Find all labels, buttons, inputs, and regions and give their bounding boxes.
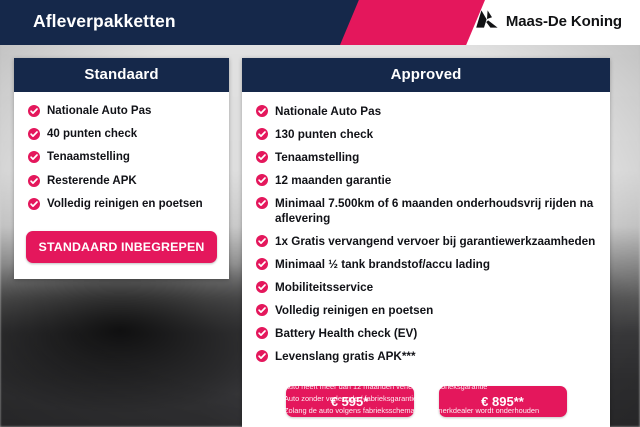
- check-circle-icon: [256, 304, 268, 316]
- feature-label: 40 punten check: [47, 127, 137, 142]
- brand-name: Maas-De Koning: [506, 13, 622, 30]
- check-circle-icon: [256, 105, 268, 117]
- feature-label: 130 punten check: [275, 127, 373, 142]
- feature-label: Resterende APK: [47, 174, 137, 189]
- standard-card-heading: Standaard: [14, 58, 229, 92]
- feature-label: Volledig reinigen en poetsen: [47, 197, 203, 212]
- check-circle-icon: [28, 105, 40, 117]
- approved-feature-list: Nationale Auto Pas 130 punten check Tena…: [242, 92, 610, 376]
- page-header: Afleverpakketten Maas-De Koning: [0, 0, 640, 45]
- approved-card-heading: Approved: [242, 58, 610, 92]
- feature-label: Minimaal ½ tank brandstof/accu lading: [275, 257, 490, 272]
- list-item: Volledig reinigen en poetsen: [242, 303, 610, 318]
- footnote: ** Auto zonder verlengde / fabrieksgaran…: [262, 393, 632, 405]
- page-title: Afleverpakketten: [33, 11, 176, 32]
- list-item: Resterende APK: [14, 174, 229, 189]
- list-item: Tenaamstelling: [242, 150, 610, 165]
- list-item: Levenslang gratis APK***: [242, 349, 610, 364]
- footnote-text: Zolang de auto volgens fabrieksschema bi…: [284, 405, 539, 417]
- standaard-inbegrepen-button[interactable]: STANDAARD INBEGREPEN: [26, 231, 217, 263]
- check-circle-icon: [28, 151, 40, 163]
- footnote-marker: **: [262, 393, 284, 405]
- list-item: Nationale Auto Pas: [242, 104, 610, 119]
- list-item: Tenaamstelling: [14, 150, 229, 165]
- list-item: 130 punten check: [242, 127, 610, 142]
- feature-label: Battery Health check (EV): [275, 326, 417, 341]
- footnote-marker: *: [262, 381, 284, 393]
- list-item: Volledig reinigen en poetsen: [14, 197, 229, 212]
- brand-lockup: Maas-De Koning: [475, 9, 622, 34]
- feature-label: 1x Gratis vervangend vervoer bij garanti…: [275, 234, 595, 249]
- maas-de-koning-m-logo-icon: [475, 9, 499, 34]
- footnote-marker: ***: [262, 405, 284, 417]
- feature-label: Tenaamstelling: [275, 150, 359, 165]
- list-item: 40 punten check: [14, 127, 229, 142]
- feature-label: Mobiliteitsservice: [275, 280, 373, 295]
- header-pink-accent: [340, 0, 485, 45]
- list-item: 12 maanden garantie: [242, 173, 610, 188]
- check-circle-icon: [28, 198, 40, 210]
- footnote-text: Auto zonder verlengde / fabrieksgarantie: [284, 393, 417, 405]
- list-item: 1x Gratis vervangend vervoer bij garanti…: [242, 234, 610, 249]
- check-circle-icon: [28, 175, 40, 187]
- footnote: *** Zolang de auto volgens fabrieksschem…: [262, 405, 632, 417]
- check-circle-icon: [256, 235, 268, 247]
- list-item: Battery Health check (EV): [242, 326, 610, 341]
- standard-feature-list: Nationale Auto Pas 40 punten check Tenaa…: [14, 92, 229, 224]
- screenshot-root: Afleverpakketten Maas-De Koning Standaar…: [0, 0, 640, 427]
- feature-label: Nationale Auto Pas: [275, 104, 381, 119]
- list-item: Nationale Auto Pas: [14, 104, 229, 119]
- standard-package-card: Standaard Nationale Auto Pas 40 punten c…: [14, 58, 229, 279]
- check-circle-icon: [256, 151, 268, 163]
- check-circle-icon: [256, 128, 268, 140]
- footnote-text: Auto heeft meer dan 12 maanden verlengde…: [284, 381, 487, 393]
- check-circle-icon: [256, 327, 268, 339]
- list-item: Minimaal 7.500km of 6 maanden onderhouds…: [242, 196, 610, 227]
- check-circle-icon: [256, 350, 268, 362]
- check-circle-icon: [256, 197, 268, 209]
- feature-label: Tenaamstelling: [47, 150, 130, 165]
- feature-label: Volledig reinigen en poetsen: [275, 303, 433, 318]
- approved-package-card: Approved Nationale Auto Pas 130 punten c…: [242, 58, 610, 427]
- feature-label: Minimaal 7.500km of 6 maanden onderhouds…: [275, 196, 600, 227]
- check-circle-icon: [256, 258, 268, 270]
- footnote: * Auto heeft meer dan 12 maanden verleng…: [262, 381, 632, 393]
- feature-label: Levenslang gratis APK***: [275, 349, 416, 364]
- check-circle-icon: [28, 128, 40, 140]
- feature-label: Nationale Auto Pas: [47, 104, 151, 119]
- feature-label: 12 maanden garantie: [275, 173, 391, 188]
- list-item: Mobiliteitsservice: [242, 280, 610, 295]
- check-circle-icon: [256, 281, 268, 293]
- footnotes-block: * Auto heeft meer dan 12 maanden verleng…: [262, 381, 632, 417]
- list-item: Minimaal ½ tank brandstof/accu lading: [242, 257, 610, 272]
- check-circle-icon: [256, 174, 268, 186]
